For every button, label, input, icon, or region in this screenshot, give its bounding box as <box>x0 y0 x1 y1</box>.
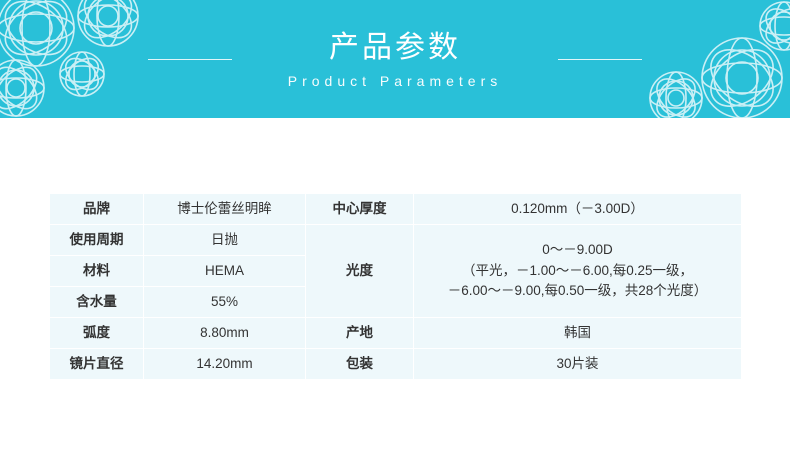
row-value-water-content: 55% <box>144 287 306 318</box>
power-line-2: （平光，－1.00～－6.00,每0.25一级， <box>414 261 741 282</box>
power-line-1: 0～－9.00D <box>414 240 741 261</box>
row-value-brand: 博士伦蕾丝明眸 <box>144 194 306 225</box>
power-line-3: －6.00～－9.00,每0.50一级，共28个光度） <box>414 281 741 302</box>
header-banner: 产品参数 Product Parameters <box>0 0 790 118</box>
spec-table: 品牌 博士伦蕾丝明眸 中心厚度 0.120mm（－3.00D） 使用周期 日抛 … <box>49 193 742 380</box>
row-value-packaging: 30片装 <box>414 349 742 380</box>
row-value-material: HEMA <box>144 256 306 287</box>
row-label-water-content: 含水量 <box>50 287 144 318</box>
row-label-brand: 品牌 <box>50 194 144 225</box>
row-label-origin: 产地 <box>306 318 414 349</box>
product-parameters-page: 产品参数 Product Parameters 品牌 博士伦蕾丝明眸 中心厚度 … <box>0 0 790 459</box>
page-subtitle: Product Parameters <box>288 73 503 89</box>
row-label-wear-cycle: 使用周期 <box>50 225 144 256</box>
spec-table-wrapper: 品牌 博士伦蕾丝明眸 中心厚度 0.120mm（－3.00D） 使用周期 日抛 … <box>49 193 742 380</box>
page-title: 产品参数 <box>329 29 461 67</box>
table-row: 品牌 博士伦蕾丝明眸 中心厚度 0.120mm（－3.00D） <box>50 194 742 225</box>
row-label-center-thickness: 中心厚度 <box>306 194 414 225</box>
row-value-lens-diameter: 14.20mm <box>144 349 306 380</box>
row-value-wear-cycle: 日抛 <box>144 225 306 256</box>
table-row: 弧度 8.80mm 产地 韩国 <box>50 318 742 349</box>
row-value-center-thickness: 0.120mm（－3.00D） <box>414 194 742 225</box>
row-value-base-curve: 8.80mm <box>144 318 306 349</box>
row-label-base-curve: 弧度 <box>50 318 144 349</box>
row-label-power: 光度 <box>306 225 414 318</box>
row-value-origin: 韩国 <box>414 318 742 349</box>
row-label-material: 材料 <box>50 256 144 287</box>
table-row: 使用周期 日抛 光度 0～－9.00D （平光，－1.00～－6.00,每0.2… <box>50 225 742 256</box>
row-value-power: 0～－9.00D （平光，－1.00～－6.00,每0.25一级， －6.00～… <box>414 225 742 318</box>
row-label-packaging: 包装 <box>306 349 414 380</box>
table-row: 镜片直径 14.20mm 包装 30片装 <box>50 349 742 380</box>
row-label-lens-diameter: 镜片直径 <box>50 349 144 380</box>
